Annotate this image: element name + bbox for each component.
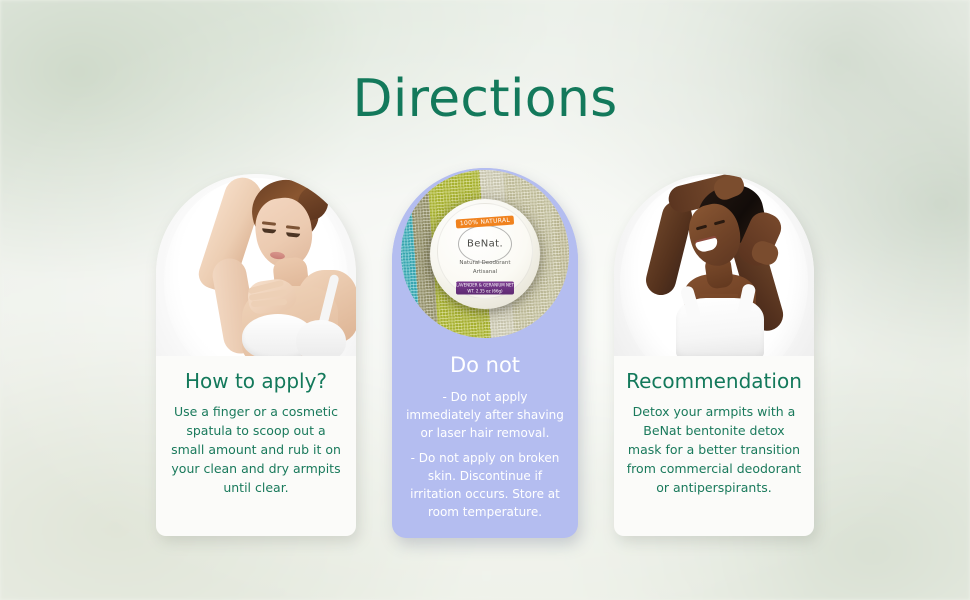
product-photo-circle: 100% NATURAL BeNat. Natural Deodorant Ar… <box>401 170 569 338</box>
card-text-do-not-2: - Do not apply on broken skin. Discontin… <box>404 449 566 521</box>
card-body-recommendation: Recommendation Detox your armpits with a… <box>614 356 814 497</box>
card-heading-recommendation: Recommendation <box>626 370 802 392</box>
card-image-how-to-apply <box>156 174 356 356</box>
card-do-not[interactable]: 100% NATURAL BeNat. Natural Deodorant Ar… <box>392 168 578 538</box>
card-body-how-to-apply: How to apply? Use a finger or a cosmetic… <box>156 356 356 497</box>
product-subtitle: Natural Deodorant Artisanal <box>449 259 521 276</box>
card-text-how-to-apply: Use a finger or a cosmetic spatula to sc… <box>168 402 344 497</box>
card-body-do-not: Do not - Do not apply immediately after … <box>392 340 578 521</box>
card-how-to-apply[interactable]: How to apply? Use a finger or a cosmetic… <box>156 174 356 536</box>
card-text-do-not-1: - Do not apply immediately after shaving… <box>404 388 566 442</box>
card-image-recommendation <box>614 174 814 356</box>
card-recommendation[interactable]: Recommendation Detox your armpits with a… <box>614 174 814 536</box>
card-text-recommendation: Detox your armpits with a BeNat bentonit… <box>626 402 802 497</box>
card-heading-do-not: Do not <box>404 354 566 377</box>
card-heading-how-to-apply: How to apply? <box>168 370 344 392</box>
product-brand-name: BeNat. <box>467 238 503 249</box>
directions-card-list: How to apply? Use a finger or a cosmetic… <box>0 168 970 558</box>
bra-cup-right-shape <box>296 320 346 356</box>
product-variant-strip: LAVENDER & GERANIUM NET WT. 2.35 oz (66g… <box>456 281 514 294</box>
card-image-do-not: 100% NATURAL BeNat. Natural Deodorant Ar… <box>392 168 578 340</box>
page-title: Directions <box>0 73 970 125</box>
